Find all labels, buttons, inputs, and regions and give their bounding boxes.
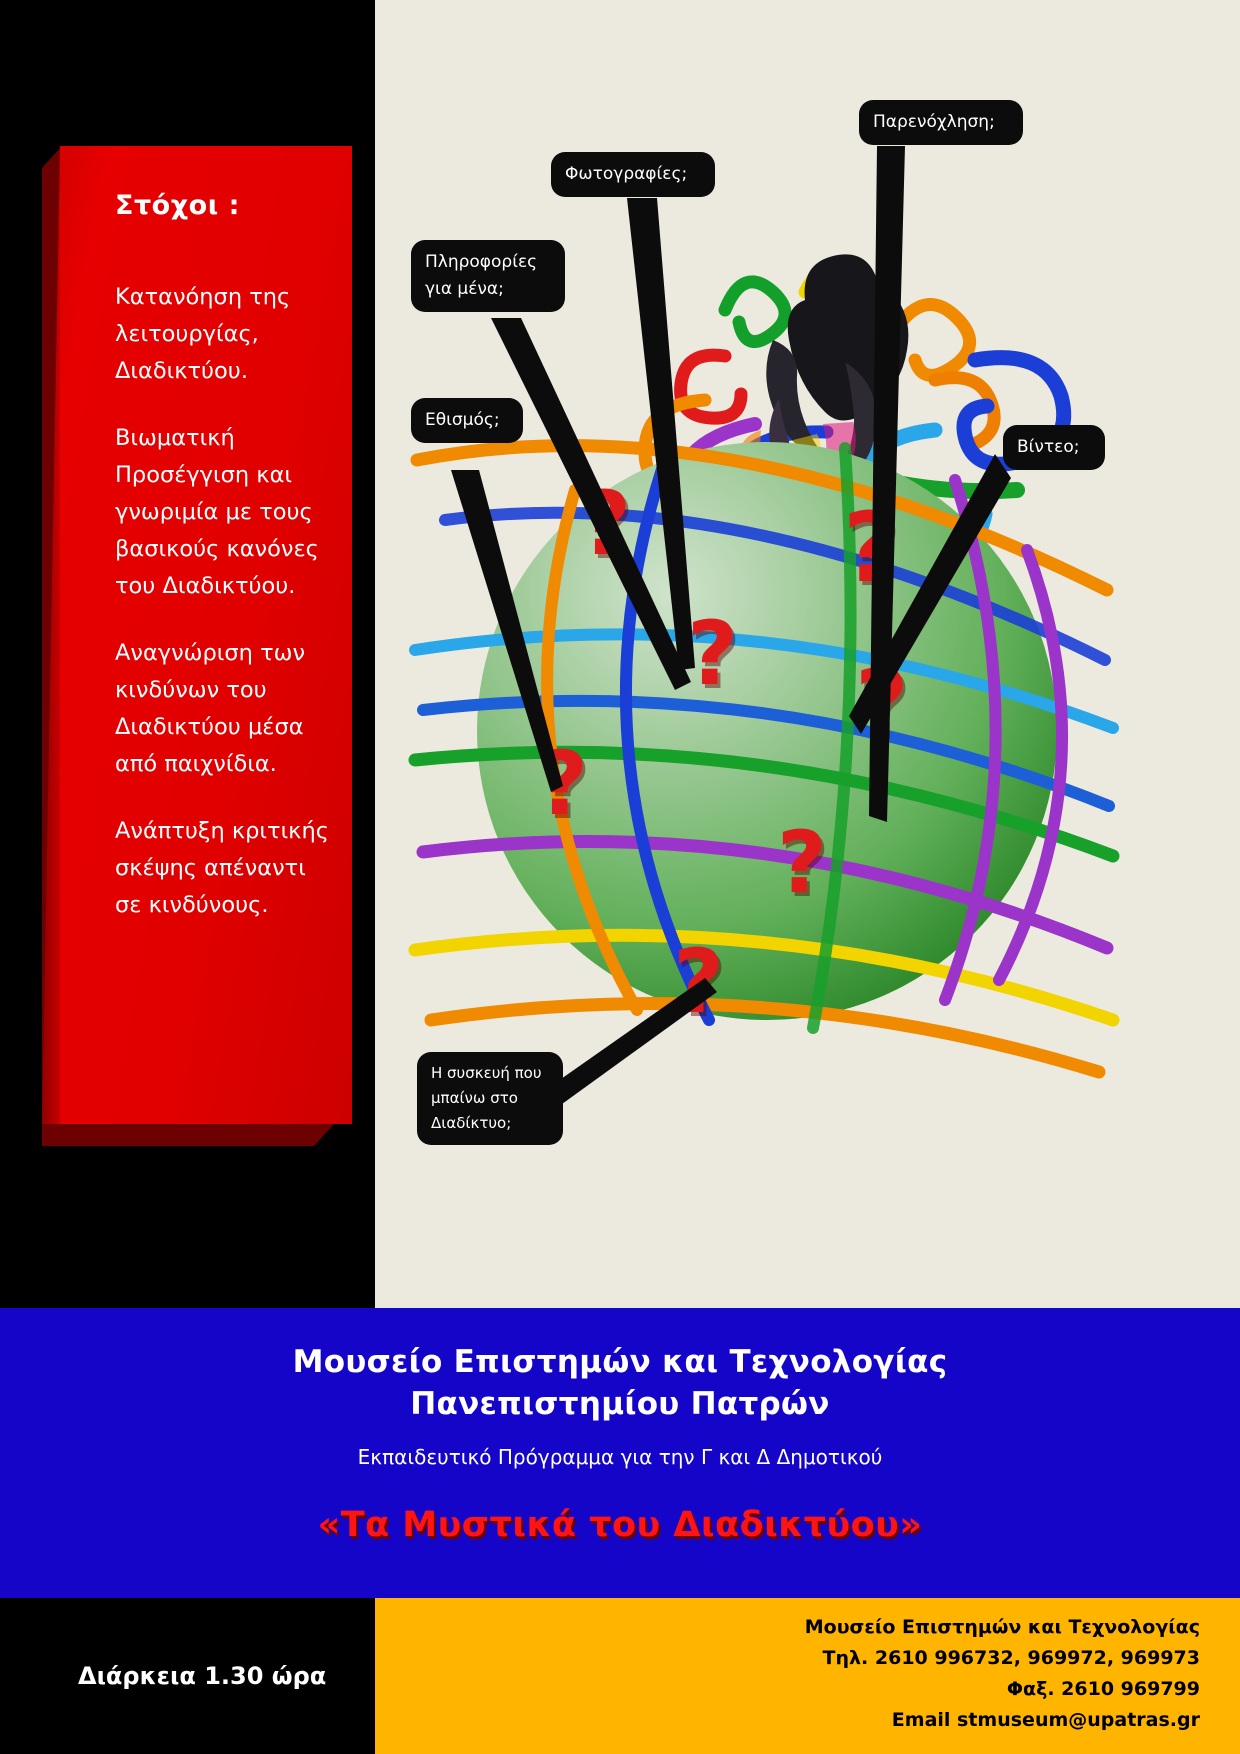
museum-title-line-1: Μουσείο Επιστημών και Τεχνολογίας <box>0 1341 1240 1383</box>
museum-title-line-2: Πανεπιστημίου Πατρών <box>0 1383 1240 1425</box>
contact-line-2: Τηλ. 2610 996732, 969972, 969973 <box>805 1643 1200 1674</box>
contact-info: Μουσείο Επιστημών και Τεχνολογίας Τηλ. 2… <box>805 1612 1200 1736</box>
museum-title: Μουσείο Επιστημών και Τεχνολογίας Πανεπι… <box>0 1308 1240 1425</box>
illustration-panel: ? ? ? ? ? ? ? <box>375 0 1240 1308</box>
bubble-video[interactable]: Βίντεο; <box>1003 425 1105 470</box>
bubble-photos[interactable]: Φωτογραφίες; <box>551 152 715 197</box>
footer-band: Μουσείο Επιστημών και Τεχνολογίας Πανεπι… <box>0 1308 1240 1598</box>
program-title: «Τα Μυστικά του Διαδικτύου» <box>0 1505 1240 1545</box>
contact-line-1: Μουσείο Επιστημών και Τεχνολογίας <box>805 1612 1200 1643</box>
goal-item-2: Βιωματική Προσέγγιση και γνωριμία με του… <box>115 420 330 605</box>
goal-item-3: Αναγνώριση των κινδύνων του Διαδικτύου μ… <box>115 635 330 783</box>
poster-root: Στόχοι : Κατανόηση της λειτουργίας, Διαδ… <box>0 0 1240 1754</box>
bubble-device[interactable]: Η συσκευή που μπαίνω στο Διαδίκτυο; <box>417 1052 563 1145</box>
bubble-harassment[interactable]: Παρενόχληση; <box>859 100 1023 145</box>
bubble-addiction[interactable]: Εθισμός; <box>411 398 523 443</box>
goals-content: Στόχοι : Κατανόηση της λειτουργίας, Διαδ… <box>115 190 330 954</box>
goal-item-4: Ανάπτυξη κριτικής σκέψης απέναντι σε κιν… <box>115 813 330 924</box>
duration-label: Διάρκεια 1.30 ώρα <box>78 1662 326 1690</box>
contact-line-4: Email stmuseum@upatras.gr <box>805 1705 1200 1736</box>
goal-item-1: Κατανόηση της λειτουργίας, Διαδικτύου. <box>115 279 330 390</box>
left-black-column: Στόχοι : Κατανόηση της λειτουργίας, Διαδ… <box>0 0 375 1308</box>
contact-line-3: Φαξ. 2610 969799 <box>805 1674 1200 1705</box>
bubble-info-about-me[interactable]: Πληροφορίες για μένα; <box>411 240 565 312</box>
goals-title: Στόχοι : <box>115 190 330 221</box>
program-subtitle: Εκπαιδευτικό Πρόγραμμα για την Γ και Δ Δ… <box>0 1445 1240 1469</box>
